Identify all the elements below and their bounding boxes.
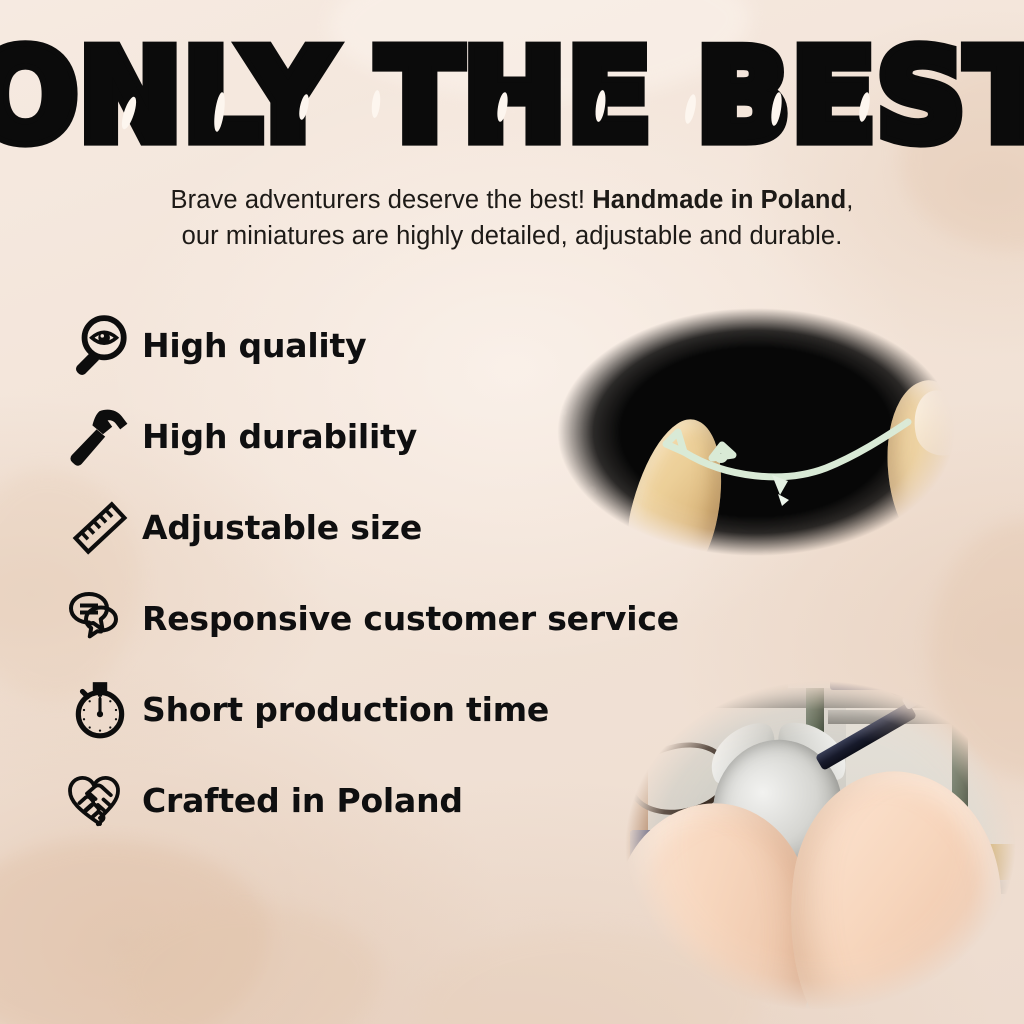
subtitle-highlight: Handmade in Poland bbox=[592, 186, 846, 214]
feature-label: Adjustable size bbox=[142, 508, 422, 547]
shelf-tray bbox=[678, 674, 788, 690]
feature-label: Responsive customer service bbox=[142, 599, 679, 638]
shelf bbox=[660, 688, 1020, 708]
workshop-hands-photo bbox=[600, 652, 1024, 1024]
poster: ONLY THE BEST Brave adventurers deserve … bbox=[0, 0, 1024, 1024]
page-title: ONLY THE BEST bbox=[0, 34, 1024, 159]
headline-container: ONLY THE BEST bbox=[0, 34, 1024, 146]
shelf bbox=[828, 710, 1024, 724]
subtitle-text-lead: Brave adventurers deserve the best! bbox=[171, 186, 593, 214]
ruler-icon bbox=[58, 492, 142, 564]
stopwatch-icon bbox=[58, 674, 142, 746]
flexible-miniature-photo bbox=[516, 272, 996, 592]
miniature-part bbox=[516, 272, 996, 592]
hobby-knife-cap bbox=[885, 668, 915, 696]
subtitle-text-second-line: our miniatures are highly detailed, adju… bbox=[182, 222, 843, 250]
feature-label: Short production time bbox=[142, 690, 549, 729]
watercolor-blot bbox=[120, 905, 380, 1024]
feature-label: High quality bbox=[142, 326, 366, 365]
speech-bubbles-icon bbox=[58, 583, 142, 655]
watercolor-blot bbox=[0, 840, 270, 1024]
handshake-heart-icon bbox=[58, 765, 142, 837]
feature-label: Crafted in Poland bbox=[142, 781, 463, 820]
feature-label: High durability bbox=[142, 417, 417, 456]
magnifier-eye-icon bbox=[58, 310, 142, 382]
subtitle-comma: , bbox=[846, 186, 853, 214]
hammer-icon bbox=[58, 401, 142, 473]
subtitle: Brave adventurers deserve the best! Hand… bbox=[0, 182, 1024, 254]
